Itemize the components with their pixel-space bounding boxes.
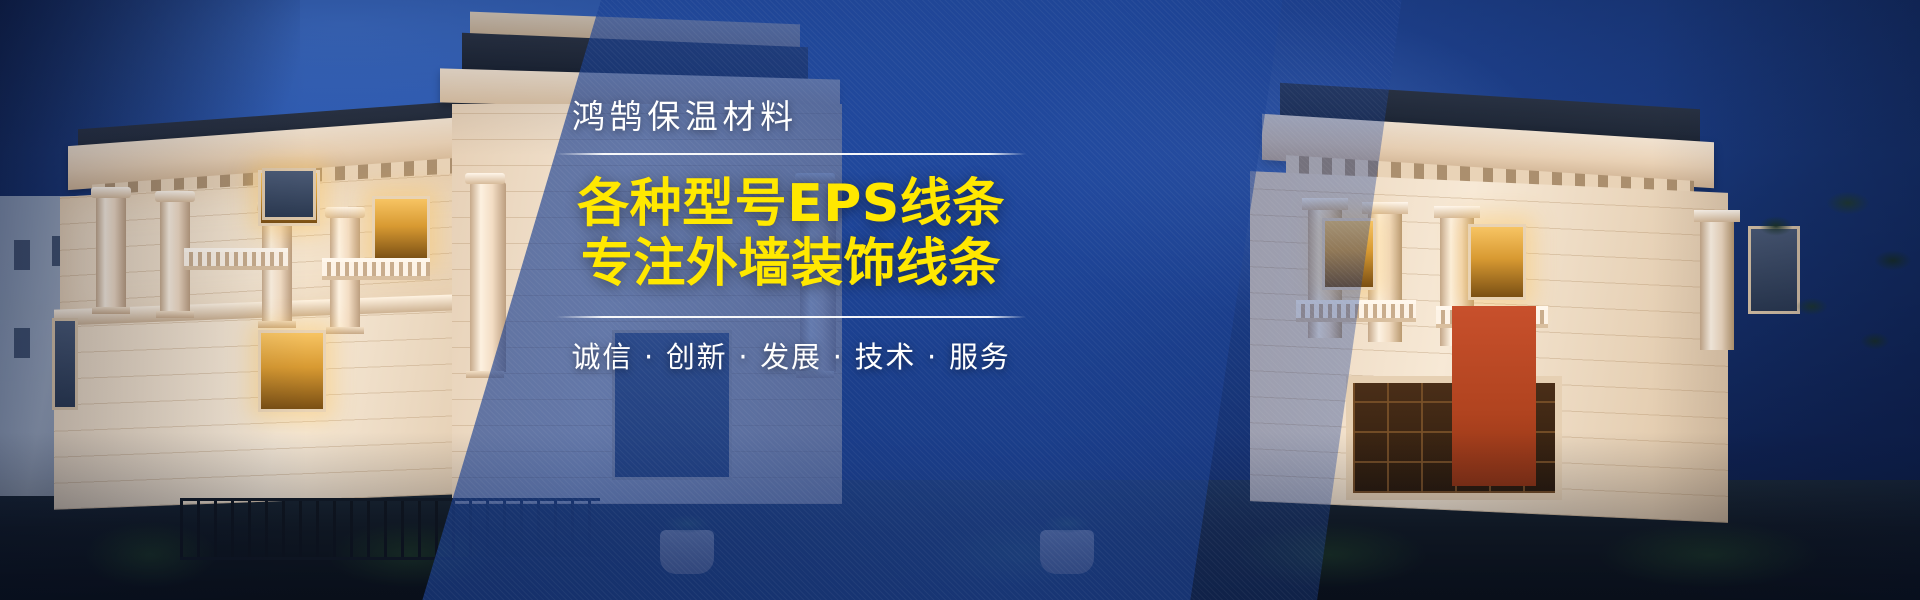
tagline: 诚信 · 创新 · 发展 · 技术 · 服务 (556, 334, 1026, 376)
banner-copy: 鸿鹄保温材料 各种型号EPS线条 专注外墙装饰线条 诚信 · 创新 · 发展 ·… (556, 96, 1026, 376)
divider-lower (556, 316, 1026, 318)
headline-line-1: 各种型号EPS线条 (556, 175, 1026, 234)
promo-banner: 鸿鹄保温材料 各种型号EPS线条 专注外墙装饰线条 诚信 · 创新 · 发展 ·… (0, 0, 1920, 600)
headline-line-2: 专注外墙装饰线条 (556, 235, 1026, 294)
divider-upper (556, 153, 1026, 155)
brand-name: 鸿鹄保温材料 (556, 96, 1026, 137)
